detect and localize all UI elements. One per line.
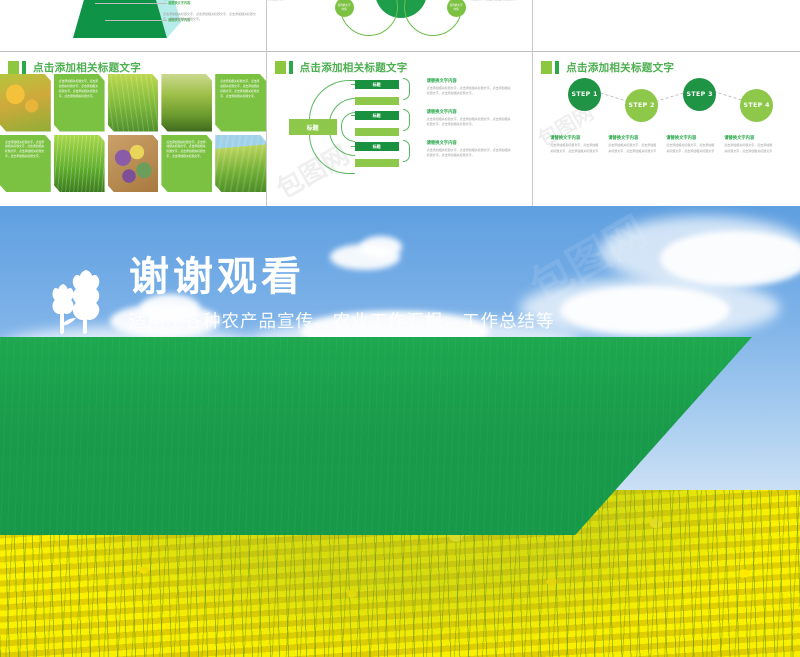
step-circle-3[interactable]: STEP 3 — [683, 78, 716, 111]
mindmap-node-light-1[interactable] — [355, 97, 399, 105]
section-heading-label: 点击添加相关标题文字 — [33, 60, 141, 75]
mindmap-brace-2 — [403, 109, 410, 131]
slide-thumbnail-right[interactable]: 请替换文字内容 点击添加相关标题文字，点击添加相关标题文字，点击添加相关标题文字… — [533, 0, 800, 206]
step-body-2: 点击添加相关标题文字，点击添加相关标题文字，点击添加相关标题文字 — [608, 143, 658, 154]
heading-bar-wide-icon — [541, 61, 552, 74]
pyramid-shape — [55, 0, 185, 52]
section-heading-label: 点击添加相关标题文字 — [566, 60, 674, 75]
section-heading: 点击添加相关标题文字 — [541, 60, 674, 75]
cloud — [660, 231, 800, 286]
cloud — [360, 236, 402, 258]
slide-photo-grid[interactable]: 点击添加相关标题文字 点击添加相关标题文字，点击添加相关标题文字，点击添加相关标… — [0, 52, 266, 205]
grid-text-cell[interactable]: 点击添加相关标题文字，点击添加相关标题文字，点击添加相关标题文字，点击添加相关标… — [161, 135, 212, 193]
section-heading-label: 点击添加相关标题文字 — [300, 60, 408, 75]
venn-bubble-right[interactable]: 请替换文字内容 — [447, 0, 466, 17]
mindmap-node-light-3[interactable] — [355, 159, 399, 167]
slide-mindmap[interactable]: 点击添加相关标题文字 标题 标题 标题 标题 请替换文字 — [267, 52, 533, 205]
step-body-1: 点击添加相关标题文字，点击添加相关标题文字，点击添加相关标题文字 — [550, 143, 600, 154]
step-body-4: 点击添加相关标题文字，点击添加相关标题文字，点击添加相关标题文字 — [724, 143, 774, 154]
step-title-1: 请替换文字内容 — [550, 135, 580, 141]
slide-thumbnail-left[interactable]: 请替换文字内容 请替换文字内容 点击添加相关标题文字，点击添加相关标题文字，点击… — [0, 0, 267, 206]
slide-pyramid-diagram[interactable]: 请替换文字内容 请替换文字内容 点击添加相关标题文字，点击添加相关标题文字，点击… — [0, 0, 266, 52]
mindmap-branch-body-1: 点击添加相关标题文字，点击添加相关标题文字，点击添加相关标题文字，点击添加相关标… — [427, 86, 513, 97]
grid-photo-rice-field[interactable] — [161, 74, 212, 132]
mindmap-node-dark-3[interactable]: 标题 — [355, 142, 399, 151]
grid-photo-grass-field[interactable] — [54, 135, 105, 193]
page-title: 谢谢观看 — [129, 256, 555, 298]
grid-text-cell[interactable]: 点击添加相关标题文字，点击添加相关标题文字，点击添加相关标题文字，点击添加相关标… — [215, 74, 265, 132]
step-title-3: 请替换文字内容 — [666, 135, 696, 141]
heading-bar-wide-icon — [275, 61, 286, 74]
grid-text: 点击添加相关标题文字，点击添加相关标题文字，点击添加相关标题文字，点击添加相关标… — [5, 140, 46, 160]
pyramid-callout-body-1: 点击添加相关标题文字，点击添加相关标题文字，点击添加相关标题文字。 — [163, 0, 261, 2]
grid-text: 点击添加相关标题文字，点击添加相关标题文字，点击添加相关标题文字，点击添加相关标… — [166, 140, 207, 160]
slide-thumbnail-strip: 请替换文字内容 请替换文字内容 点击添加相关标题文字，点击添加相关标题文字，点击… — [0, 0, 800, 206]
mindmap-node-dark-1[interactable]: 标题 — [355, 80, 399, 89]
grid-photo-rice-ear[interactable] — [0, 74, 51, 132]
template-preview-page: 请替换文字内容 请替换文字内容 点击添加相关标题文字，点击添加相关标题文字，点击… — [0, 0, 800, 657]
step-title-4: 请替换文字内容 — [724, 135, 754, 141]
step-title-2: 请替换文字内容 — [608, 135, 638, 141]
venn-bubble-left[interactable]: 请替换文字内容 — [335, 0, 354, 17]
mindmap-root-node[interactable]: 标题 — [289, 119, 337, 135]
section-heading: 点击添加相关标题文字 — [275, 60, 408, 75]
step-circle-4[interactable]: STEP 4 — [740, 89, 773, 122]
mindmap-brace-1 — [403, 78, 410, 100]
grid-text: 点击添加相关标题文字，点击添加相关标题文字，点击添加相关标题文字，点击添加相关标… — [59, 79, 100, 99]
step-circle-2[interactable]: STEP 2 — [625, 89, 658, 122]
venn-body-left: 点击添加相关标题文字，点击添加相关标题文字，点击添加相关标题文字，点击添加相关标… — [267, 0, 307, 2]
mindmap-branch-title-3: 请替换文字内容 — [427, 140, 457, 146]
mindmap-branch-title-1: 请替换文字内容 — [427, 78, 457, 84]
heading-bar-thin-icon — [555, 61, 559, 74]
photo-text-grid: 点击添加相关标题文字，点击添加相关标题文字，点击添加相关标题文字，点击添加相关标… — [0, 74, 266, 192]
cloud — [560, 286, 730, 334]
grid-photo-green-wheat[interactable] — [108, 74, 159, 132]
mindmap-node-light-2[interactable] — [355, 128, 399, 136]
grid-text: 点击添加相关标题文字，点击添加相关标题文字，点击添加相关标题文字，点击添加相关标… — [220, 79, 261, 99]
wheat-icon — [45, 262, 109, 334]
page-subtitle: 适用于各种农产品宣传、农业工作汇报、工作总结等 — [129, 308, 555, 333]
slide-four-steps[interactable]: 点击添加相关标题文字 STEP 1 STEP 2 STEP 3 STEP 4 请… — [533, 52, 800, 205]
grid-photo-farmland-rows[interactable] — [215, 135, 265, 193]
final-thank-you-slide[interactable]: 谢谢观看 适用于各种农产品宣传、农业工作汇报、工作总结等 包图网 — [0, 206, 800, 657]
slide-thumbnail-middle[interactable]: 请替换文字内容 请替换文字内容 点击添加相关标题文字，点击添加相关标题文字，点击… — [267, 0, 534, 206]
venn-body-right: 点击添加相关标题文字，点击添加相关标题文字，点击添加相关标题文字，点击添加相关标… — [471, 0, 533, 2]
callout-line-2 — [105, 20, 167, 21]
grid-text-cell[interactable]: 点击添加相关标题文字，点击添加相关标题文字，点击添加相关标题文字，点击添加相关标… — [0, 135, 51, 193]
mindmap-branch-body-3: 点击添加相关标题文字，点击添加相关标题文字，点击添加相关标题文字，点击添加相关标… — [427, 148, 513, 159]
section-heading: 点击添加相关标题文字 — [8, 60, 141, 75]
step-circle-1[interactable]: STEP 1 — [568, 78, 601, 111]
grid-photo-cauliflower-basket[interactable] — [108, 135, 159, 193]
pyramid-callout-body-2: 点击添加相关标题文字，点击添加相关标题文字，点击添加相关标题文字，点击添加相关标… — [163, 12, 261, 22]
mindmap-node-dark-2[interactable]: 标题 — [355, 111, 399, 120]
slide-four-columns[interactable]: 请替换文字内容 点击添加相关标题文字，点击添加相关标题文字，点击添加相关标题文字… — [533, 0, 800, 52]
mindmap-brace-3 — [403, 140, 410, 162]
mindmap-branch-title-2: 请替换文字内容 — [427, 109, 457, 115]
thank-you-text-block: 谢谢观看 适用于各种农产品宣传、农业工作汇报、工作总结等 — [129, 256, 555, 333]
thank-you-content: 谢谢观看 适用于各种农产品宣传、农业工作汇报、工作总结等 — [45, 256, 555, 334]
heading-bar-thin-icon — [22, 61, 26, 74]
heading-bar-wide-icon — [8, 61, 19, 74]
heading-bar-thin-icon — [289, 61, 293, 74]
mindmap-branch-body-2: 点击添加相关标题文字，点击添加相关标题文字，点击添加相关标题文字，点击添加相关标… — [427, 117, 513, 128]
callout-line-1 — [95, 3, 167, 4]
step-body-3: 点击添加相关标题文字，点击添加相关标题文字，点击添加相关标题文字 — [666, 143, 716, 154]
slide-venn-diagram[interactable]: 请替换文字内容 请替换文字内容 点击添加相关标题文字，点击添加相关标题文字，点击… — [267, 0, 533, 52]
grid-text-cell[interactable]: 点击添加相关标题文字，点击添加相关标题文字，点击添加相关标题文字，点击添加相关标… — [54, 74, 105, 132]
